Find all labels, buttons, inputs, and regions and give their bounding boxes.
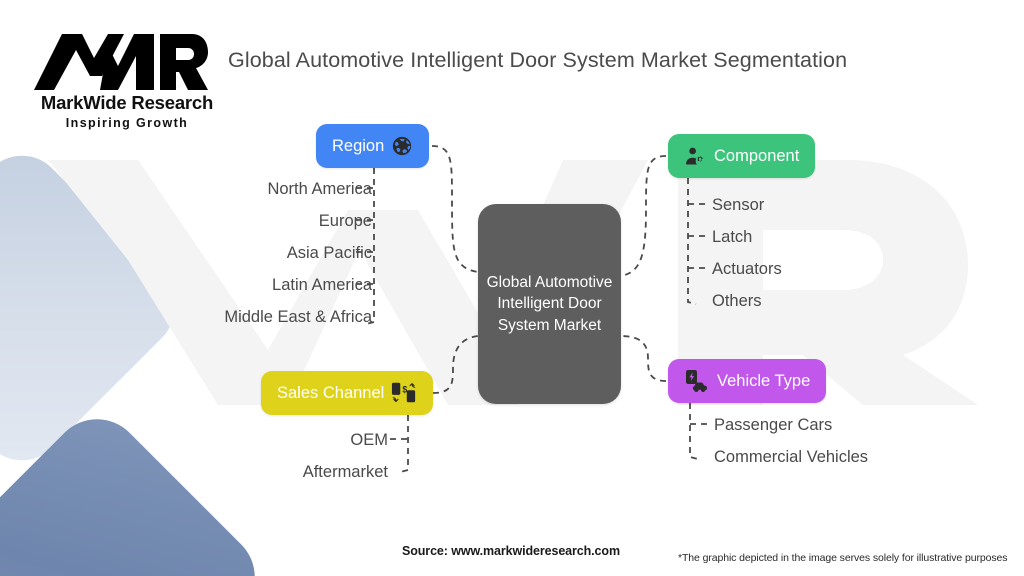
leaf-region-1: Europe (319, 213, 372, 230)
branch-node-region[interactable]: Region (316, 124, 429, 168)
leaf-sales-1: Aftermarket (303, 464, 388, 481)
connector-sales-center (433, 336, 478, 393)
connector-component-spine (688, 178, 696, 304)
leaf-vehicle-0: Passenger Cars (714, 417, 832, 434)
leaf-component-2: Actuators (712, 261, 782, 278)
leaf-component-3: Others (712, 293, 762, 310)
leaf-region-3: Latin America (272, 277, 372, 294)
branch-node-sales-channel[interactable]: Sales Channel $ (261, 371, 433, 415)
branch-label-region: Region (332, 137, 384, 156)
globe-icon (391, 135, 413, 157)
connector-region-center (432, 146, 478, 272)
disclaimer-note: *The graphic depicted in the image serve… (678, 552, 1007, 564)
branch-node-component[interactable]: Component (668, 134, 815, 178)
ev-charging-car-icon (684, 369, 710, 393)
branch-label-component: Component (714, 147, 799, 166)
center-node[interactable]: Global Automotive Intelligent Door Syste… (478, 204, 621, 404)
leaf-region-0: North America (267, 181, 372, 198)
infographic-canvas: MarkWide Research Inspiring Growth Globa… (0, 0, 1024, 576)
user-gear-icon (684, 145, 707, 168)
leaf-region-2: Asia Pacific (287, 245, 372, 262)
connector-vehicle-center (621, 336, 666, 381)
center-node-label: Global Automotive Intelligent Door Syste… (478, 272, 621, 336)
branch-label-vehicle-type: Vehicle Type (717, 372, 810, 391)
source-credit: Source: www.markwideresearch.com (402, 544, 620, 558)
leaf-component-0: Sensor (712, 197, 764, 214)
connector-vehicle-spine (690, 403, 698, 459)
leaf-vehicle-1: Commercial Vehicles (714, 449, 868, 466)
connector-component-center (621, 156, 666, 276)
leaf-component-1: Latch (712, 229, 752, 246)
leaf-region-4: Middle East & Africa (224, 309, 372, 326)
mobile-payment-icon: $ (391, 381, 417, 405)
branch-node-vehicle-type[interactable]: Vehicle Type (668, 359, 826, 403)
branch-label-sales-channel: Sales Channel (277, 384, 384, 403)
leaf-sales-0: OEM (350, 432, 388, 449)
svg-text:$: $ (403, 385, 408, 395)
connector-sales-spine (400, 415, 408, 472)
